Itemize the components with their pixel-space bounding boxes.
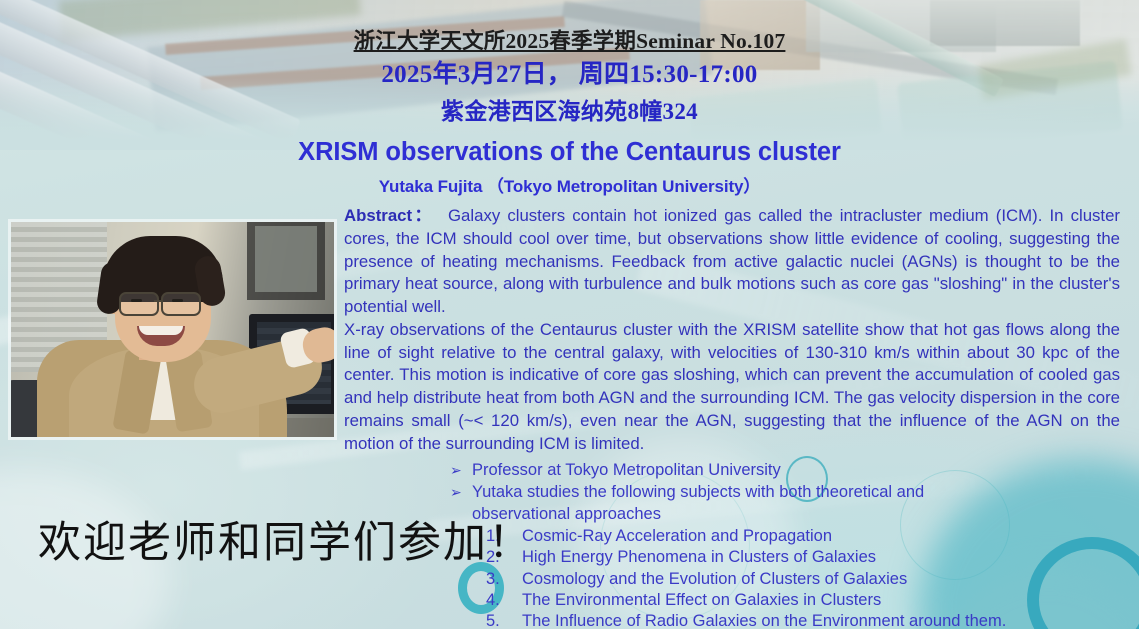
topic-text: The Environmental Effect on Galaxies in …	[522, 590, 1070, 611]
seminar-poster: 浙江大学天文所2025春季学期Seminar No.107 2025年3月27日…	[0, 0, 1139, 629]
abstract-paragraph-1: Abstract： Galaxy clusters contain hot io…	[344, 205, 1120, 319]
speaker-name-affiliation: Yutaka Fujita （Tokyo Metropolitan Univer…	[0, 172, 1139, 197]
seminar-series-title: 浙江大学天文所2025春季学期Seminar No.107	[0, 29, 1139, 53]
seminar-datetime: 2025年3月27日， 周四15:30-17:00	[0, 61, 1139, 90]
topic-number: 3.	[450, 569, 522, 590]
photo-teeth	[139, 326, 183, 335]
abstract-paragraph-2: X-ray observations of the Centaurus clus…	[344, 319, 1120, 456]
photo-eye-right	[172, 299, 183, 302]
topic-text: High Energy Phenomena in Clusters of Gal…	[522, 547, 1070, 568]
seminar-venue: 紫金港西区海纳苑8幢324	[0, 99, 1139, 125]
abstract-block: Abstract： Galaxy clusters contain hot io…	[344, 205, 1120, 455]
research-topics-list: 1. Cosmic-Ray Acceleration and Propagati…	[450, 526, 1070, 629]
list-item: 2. High Energy Phenomena in Clusters of …	[450, 547, 1070, 568]
topic-number: 5.	[450, 611, 522, 629]
arrow-bullet-icon: ➢	[450, 460, 472, 480]
topic-text: Cosmology and the Evolution of Clusters …	[522, 569, 1070, 590]
list-item: ➢ Professor at Tokyo Metropolitan Univer…	[450, 460, 1070, 481]
bio-bullet-1: Professor at Tokyo Metropolitan Universi…	[472, 460, 1070, 481]
photo-glasses-left	[119, 292, 159, 316]
bio-bullet-2: Yutaka studies the following subjects wi…	[472, 482, 1070, 503]
abstract-text-1: Galaxy clusters contain hot ionized gas …	[344, 206, 1120, 316]
topic-text: Cosmic-Ray Acceleration and Propagation	[522, 526, 1070, 547]
topic-number: 4.	[450, 590, 522, 611]
list-item: ➢ Yutaka studies the following subjects …	[450, 482, 1070, 503]
speaker-bio-list: ➢ Professor at Tokyo Metropolitan Univer…	[450, 460, 1070, 629]
welcome-message: 欢迎老师和同学们参加！	[38, 508, 533, 570]
photo-glasses-right	[161, 292, 201, 316]
list-item: 3. Cosmology and the Evolution of Cluste…	[450, 569, 1070, 590]
abstract-label: Abstract：	[344, 206, 434, 225]
photo-eye-left	[131, 299, 142, 302]
bio-bullet-2-continuation: observational approaches	[472, 504, 1070, 525]
speaker-photo	[11, 222, 334, 437]
photo-glasses-bridge	[154, 300, 163, 302]
talk-title: XRISM observations of the Centaurus clus…	[0, 138, 1139, 167]
poster-header: 浙江大学天文所2025春季学期Seminar No.107 2025年3月27日…	[0, 0, 1139, 125]
list-item: 4. The Environmental Effect on Galaxies …	[450, 590, 1070, 611]
arrow-bullet-icon: ➢	[450, 482, 472, 502]
photo-wall-frame-inner	[255, 226, 317, 292]
topic-text: The Influence of Radio Galaxies on the E…	[522, 611, 1070, 629]
list-item: 5. The Influence of Radio Galaxies on th…	[450, 611, 1070, 629]
list-item: 1. Cosmic-Ray Acceleration and Propagati…	[450, 526, 1070, 547]
